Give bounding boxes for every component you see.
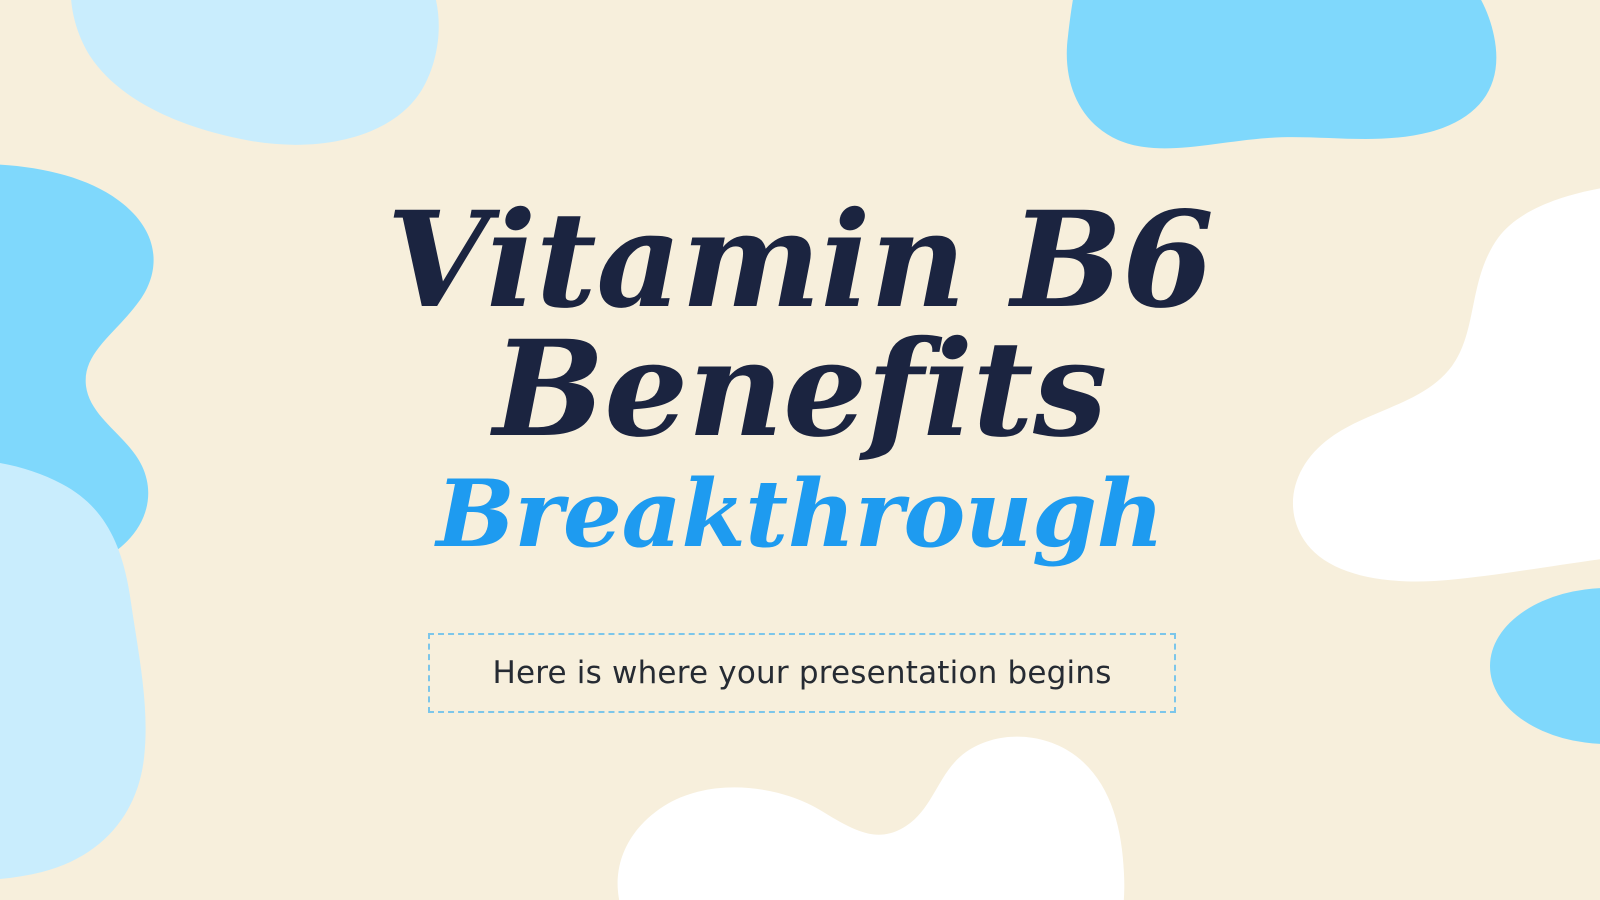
slide-title-line-2: Benefits [0, 325, 1600, 454]
presentation-intro-placeholder-text: Here is where your presentation begins [492, 655, 1111, 691]
slide-content: Vitamin B6 Benefits Breakthrough Here is… [0, 0, 1600, 900]
slide-title-line-1: Vitamin B6 [0, 196, 1600, 325]
slide-subtitle-breakthrough: Breakthrough [0, 467, 1600, 560]
presentation-intro-placeholder-box[interactable]: Here is where your presentation begins [428, 633, 1176, 713]
title-block: Vitamin B6 Benefits Breakthrough [0, 196, 1600, 560]
presentation-slide: Vitamin B6 Benefits Breakthrough Here is… [0, 0, 1600, 900]
